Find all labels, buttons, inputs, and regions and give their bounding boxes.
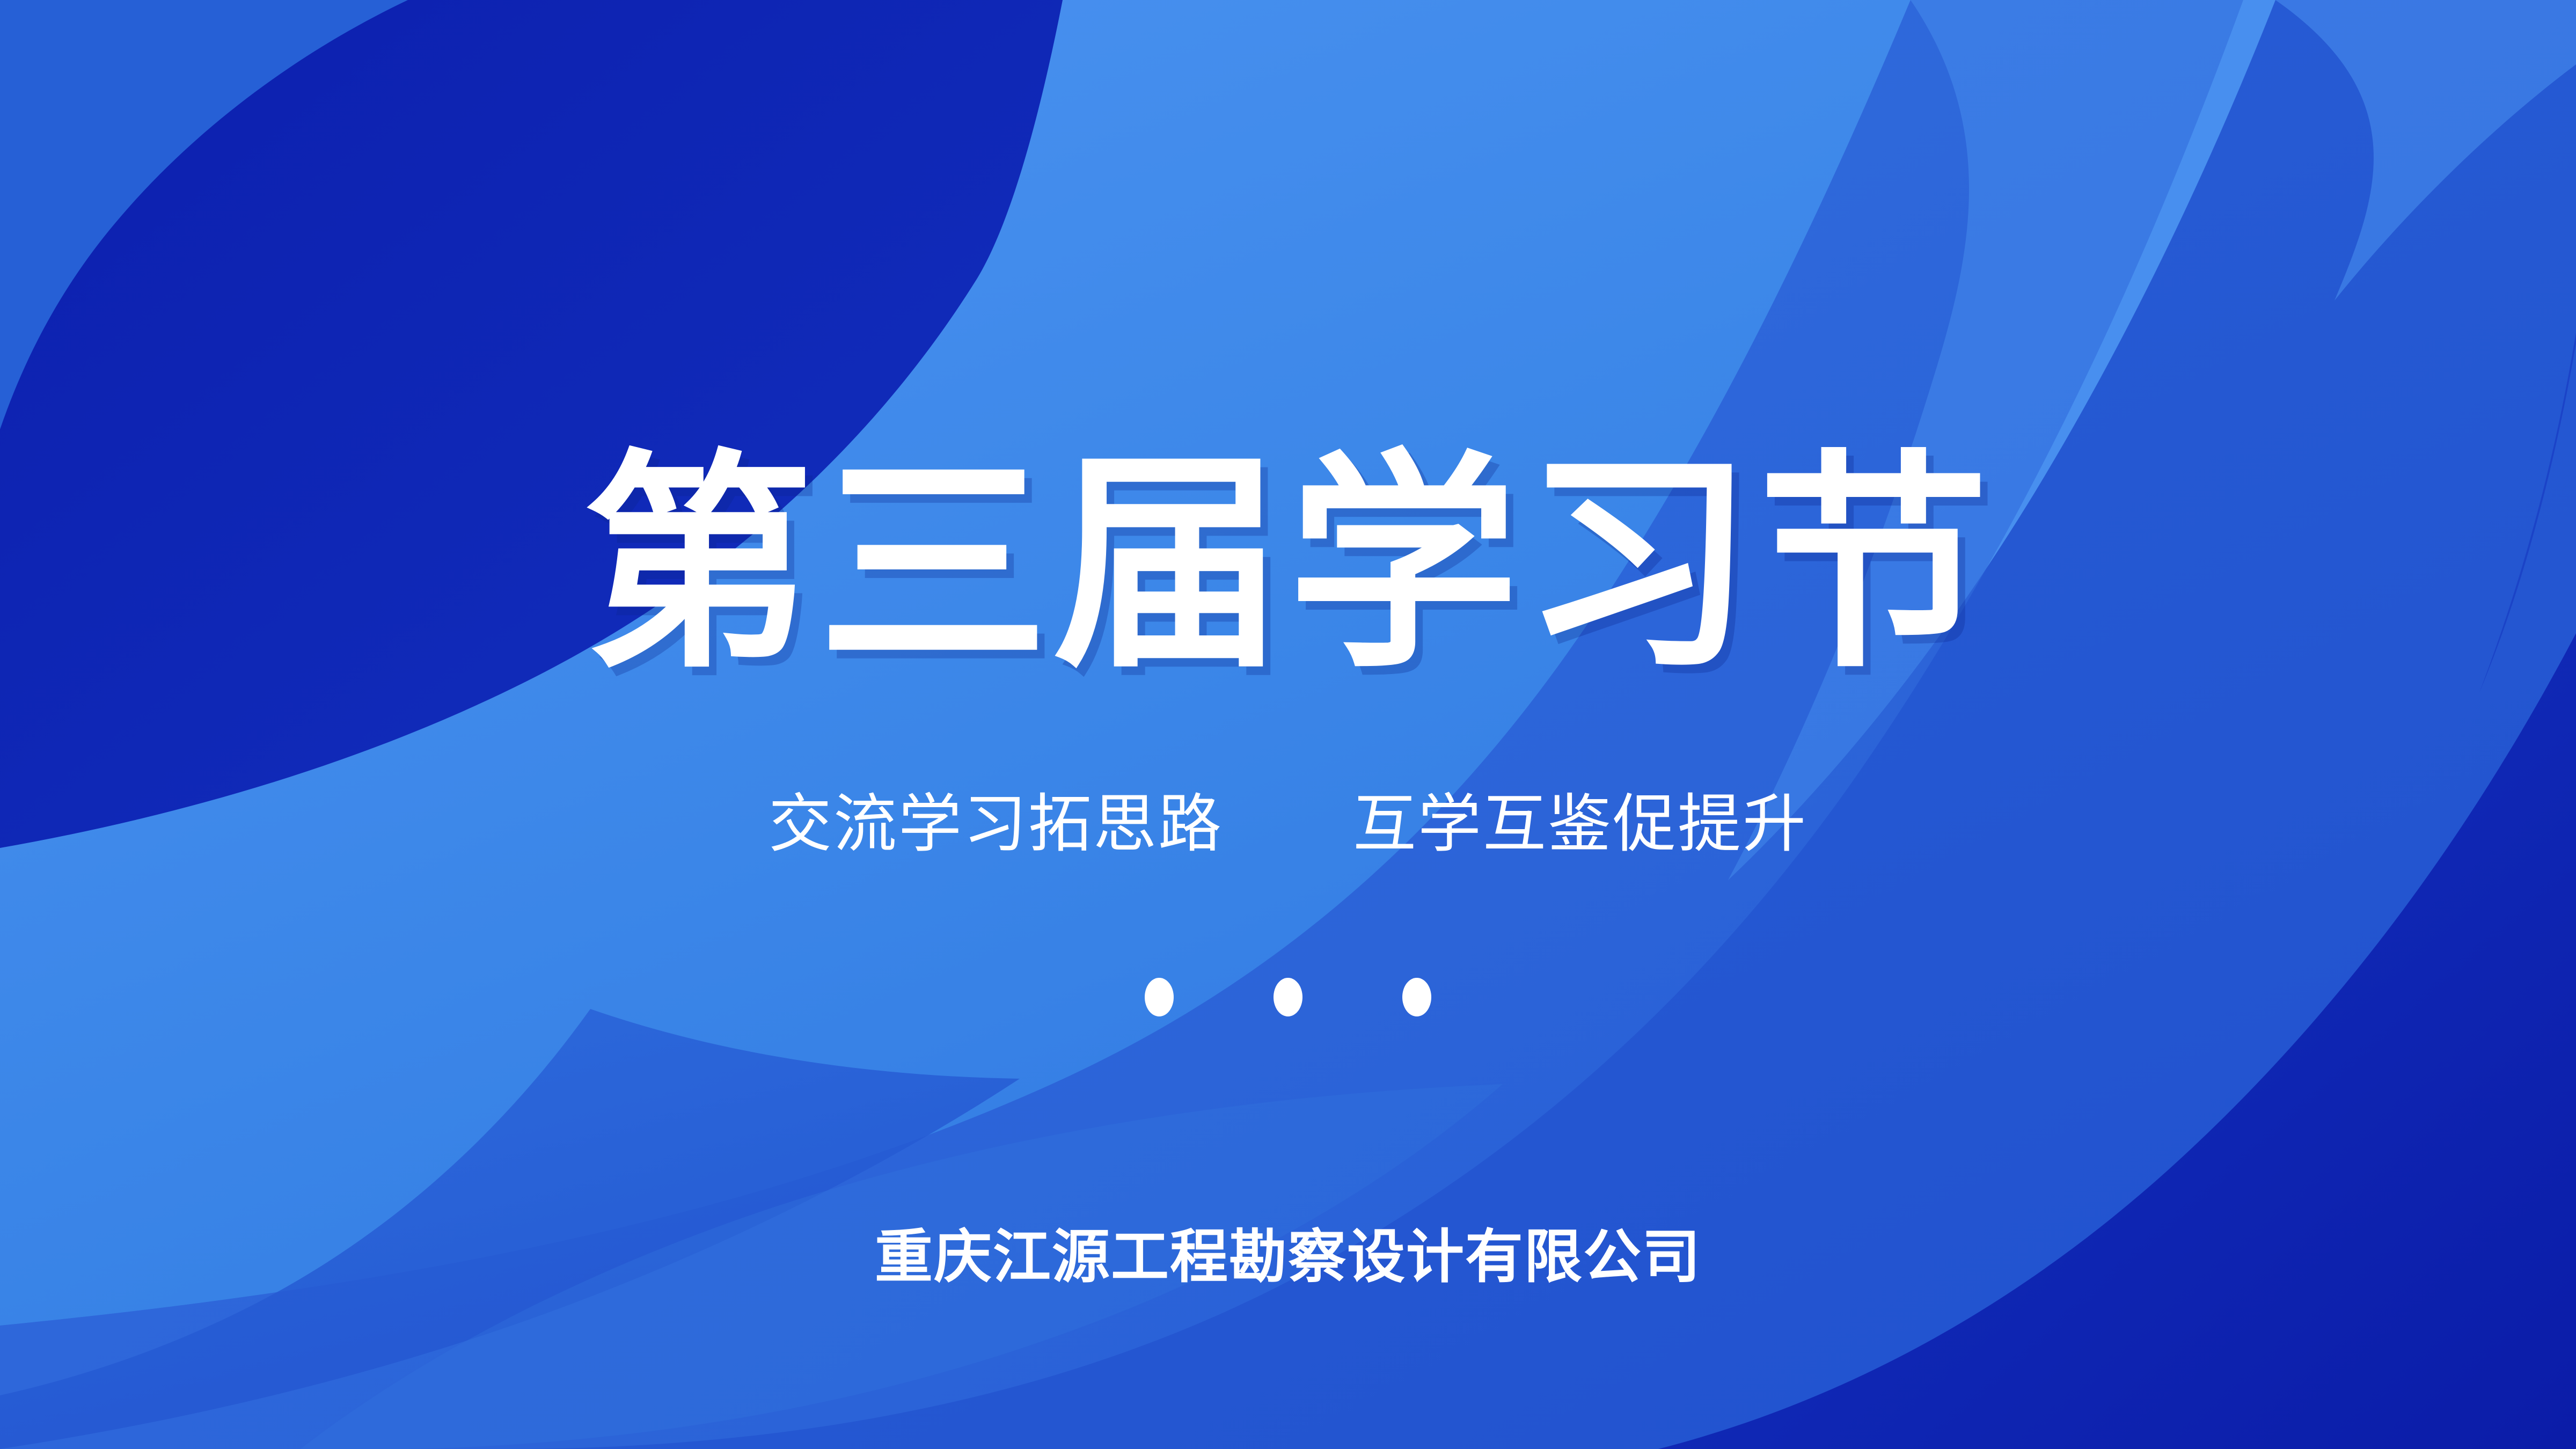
dot-icon bbox=[1402, 978, 1431, 1016]
dot-icon bbox=[1145, 978, 1174, 1016]
page-title: 第三届学习节 bbox=[0, 450, 2576, 680]
banner-content: 第三届学习节 交流学习拓思路 互学互鉴促提升 重庆江源工程勘察设计有限公司 bbox=[0, 0, 2576, 1449]
learning-festival-banner: 第三届学习节 交流学习拓思路 互学互鉴促提升 重庆江源工程勘察设计有限公司 bbox=[0, 0, 2576, 1449]
dot-icon bbox=[1274, 978, 1302, 1016]
company-name: 重庆江源工程勘察设计有限公司 bbox=[0, 1222, 2576, 1292]
decorative-dots-row bbox=[0, 978, 2576, 1016]
banner-subtitle: 交流学习拓思路 互学互鉴促提升 bbox=[0, 787, 2576, 863]
